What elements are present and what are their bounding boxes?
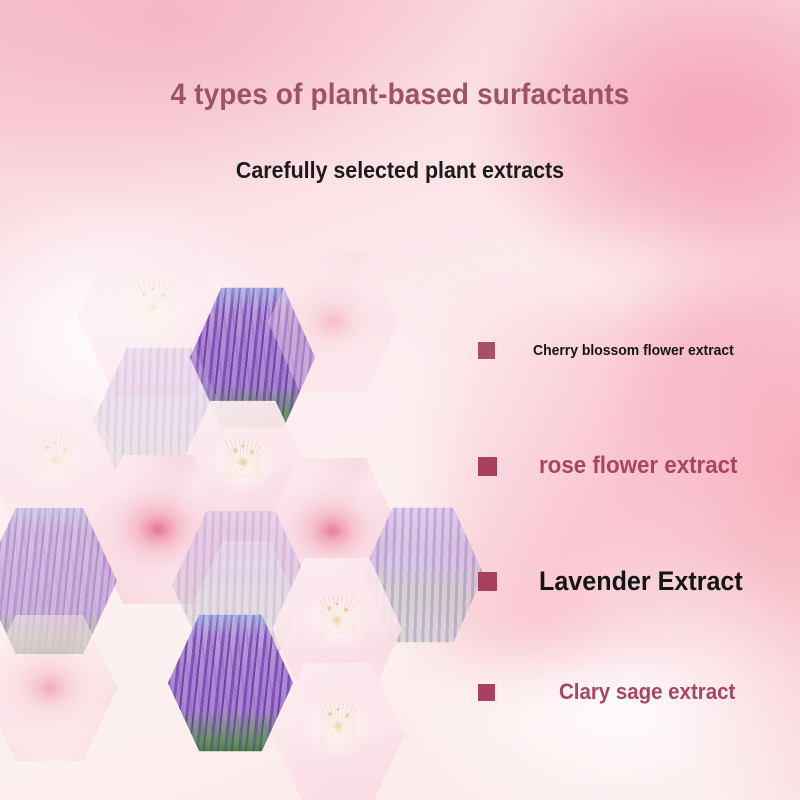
hex-rose-3 xyxy=(0,612,117,764)
legend-row-2[interactable]: rose flower extract xyxy=(478,452,752,480)
legend-row-3[interactable]: Lavender Extract xyxy=(478,566,758,597)
bullet-square-icon xyxy=(478,684,495,701)
legend-label: Cherry blossom flower extract xyxy=(533,342,734,359)
extract-legend-list: Cherry blossom flower extractrose flower… xyxy=(478,0,800,800)
poster-canvas: 4 types of plant-based surfactants Caref… xyxy=(0,0,800,800)
hexagon-photo-grid xyxy=(0,0,500,800)
legend-row-4[interactable]: Clary sage extract xyxy=(478,679,749,705)
bullet-square-icon xyxy=(478,342,495,359)
bullet-square-icon xyxy=(478,457,497,476)
legend-row-1[interactable]: Cherry blossom flower extract xyxy=(478,342,749,359)
legend-label: Clary sage extract xyxy=(559,679,735,705)
hex-frame xyxy=(0,612,117,764)
legend-label: Lavender Extract xyxy=(539,566,743,597)
legend-label: rose flower extract xyxy=(539,452,737,480)
bullet-square-icon xyxy=(478,572,497,591)
